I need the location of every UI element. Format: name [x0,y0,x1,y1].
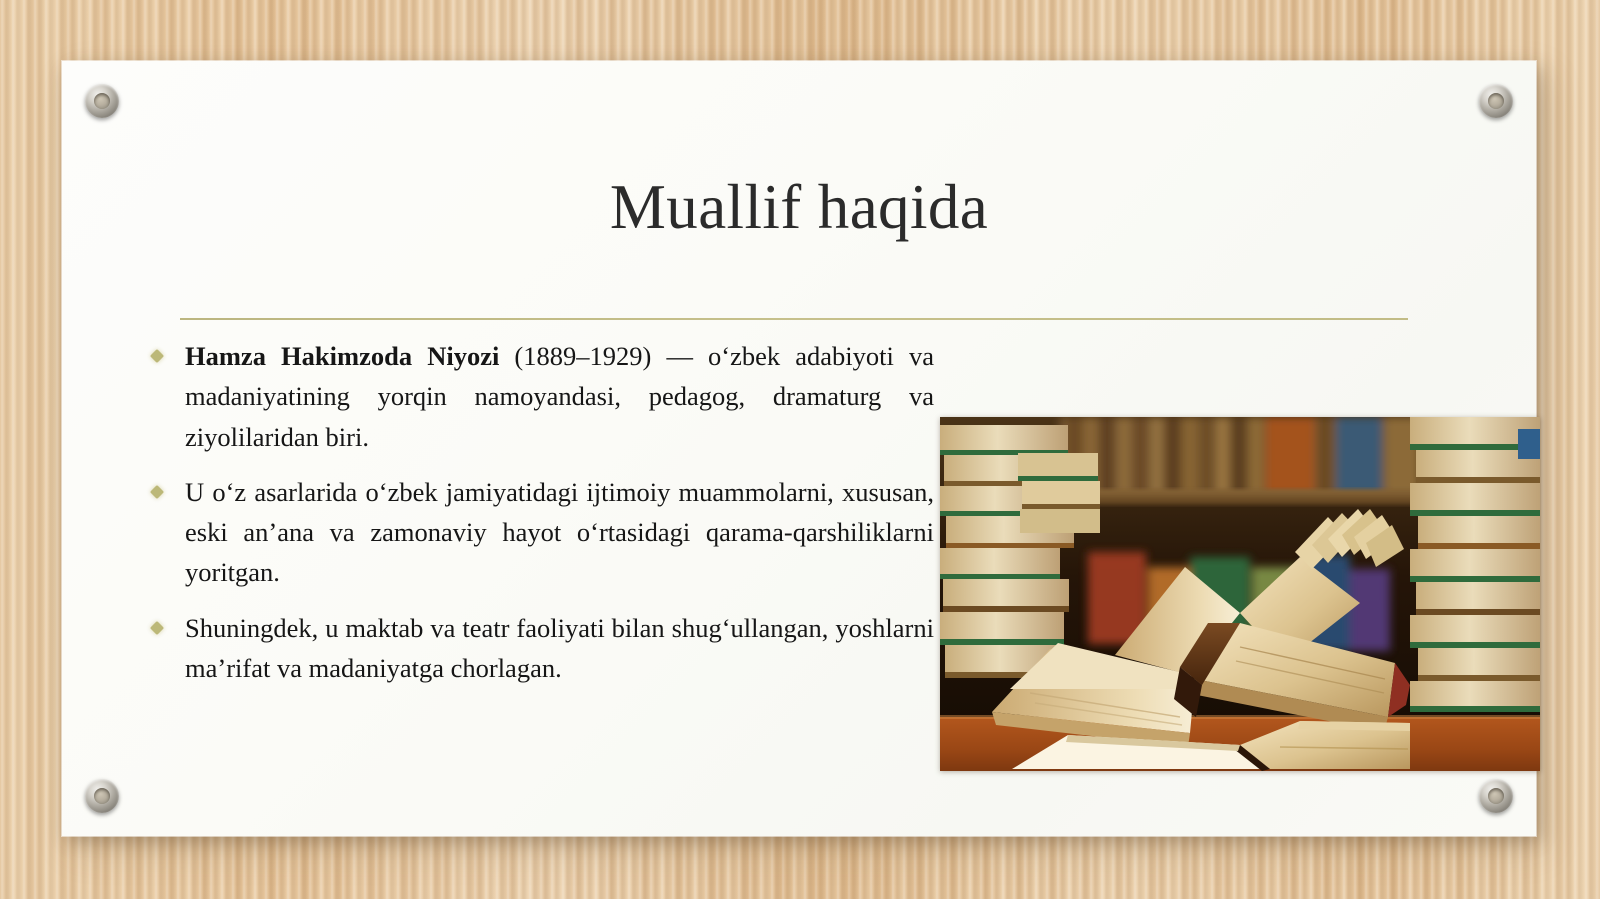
screw-icon-bottom-left [85,779,119,813]
screw-icon-top-right [1479,84,1513,118]
bullet-diamond-icon-2 [150,485,164,499]
bullet-rest-2: U oʻz asarlarida oʻzbek jamiyatidagi ijt… [185,477,934,588]
bullet-lead-1: Hamza Hakimzoda Niyozi [185,341,499,371]
bullet-item-2: U oʻz asarlarida oʻzbek jamiyatidagi ijt… [144,472,934,593]
bullet-list: Hamza Hakimzoda Niyozi (1889–1929) — oʻz… [144,336,934,688]
title-divider [180,318,1408,320]
bullet-diamond-icon-1 [150,349,164,363]
bullet-text-3: Shuningdek, u maktab va teatr faoliyati … [185,613,934,683]
bullet-text-1: Hamza Hakimzoda Niyozi (1889–1929) — oʻz… [185,341,934,452]
slide-card: Muallif haqida Hamza Hakimzoda Niyozi (1… [62,61,1536,836]
books-photo [940,417,1540,771]
bullet-diamond-icon-3 [150,621,164,635]
bullet-rest-3: Shuningdek, u maktab va teatr faoliyati … [185,613,934,683]
bullet-text-2: U oʻz asarlarida oʻzbek jamiyatidagi ijt… [185,477,934,588]
bullet-item-3: Shuningdek, u maktab va teatr faoliyati … [144,608,934,689]
screw-icon-bottom-right [1479,779,1513,813]
bullet-item-1: Hamza Hakimzoda Niyozi (1889–1929) — oʻz… [144,336,934,457]
screw-icon-top-left [85,84,119,118]
books-illustration-icon [940,417,1540,771]
slide-background: Muallif haqida Hamza Hakimzoda Niyozi (1… [0,0,1600,899]
slide-title: Muallif haqida [182,173,1416,242]
